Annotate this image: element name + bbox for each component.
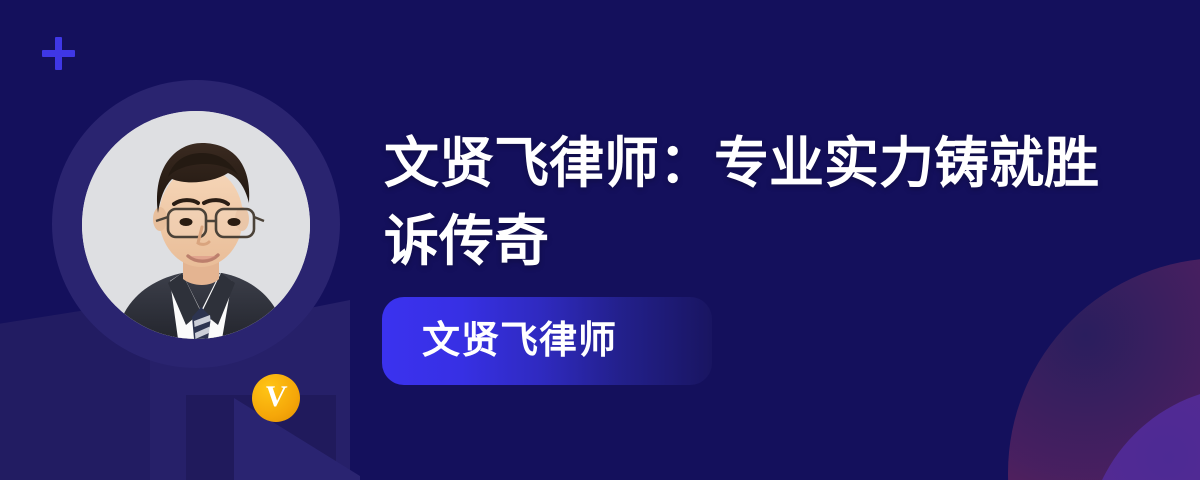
verified-badge-icon: V <box>252 374 300 422</box>
lawyer-name-button-label: 文贤飞律师 <box>422 322 617 360</box>
avatar[interactable]: V <box>52 80 340 368</box>
headline-block: 文贤飞律师：专业实力铸就胜诉传奇 <box>384 124 1104 280</box>
promo-banner: V 文贤飞律师：专业实力铸就胜诉传奇 文贤飞律师 <box>0 0 1200 480</box>
avatar-photo <box>82 111 310 339</box>
verified-badge-glyph: V <box>264 382 288 412</box>
page-title: 文贤飞律师：专业实力铸就胜诉传奇 <box>384 124 1104 280</box>
plus-icon <box>42 37 75 70</box>
lawyer-name-button[interactable]: 文贤飞律师 <box>382 297 712 385</box>
